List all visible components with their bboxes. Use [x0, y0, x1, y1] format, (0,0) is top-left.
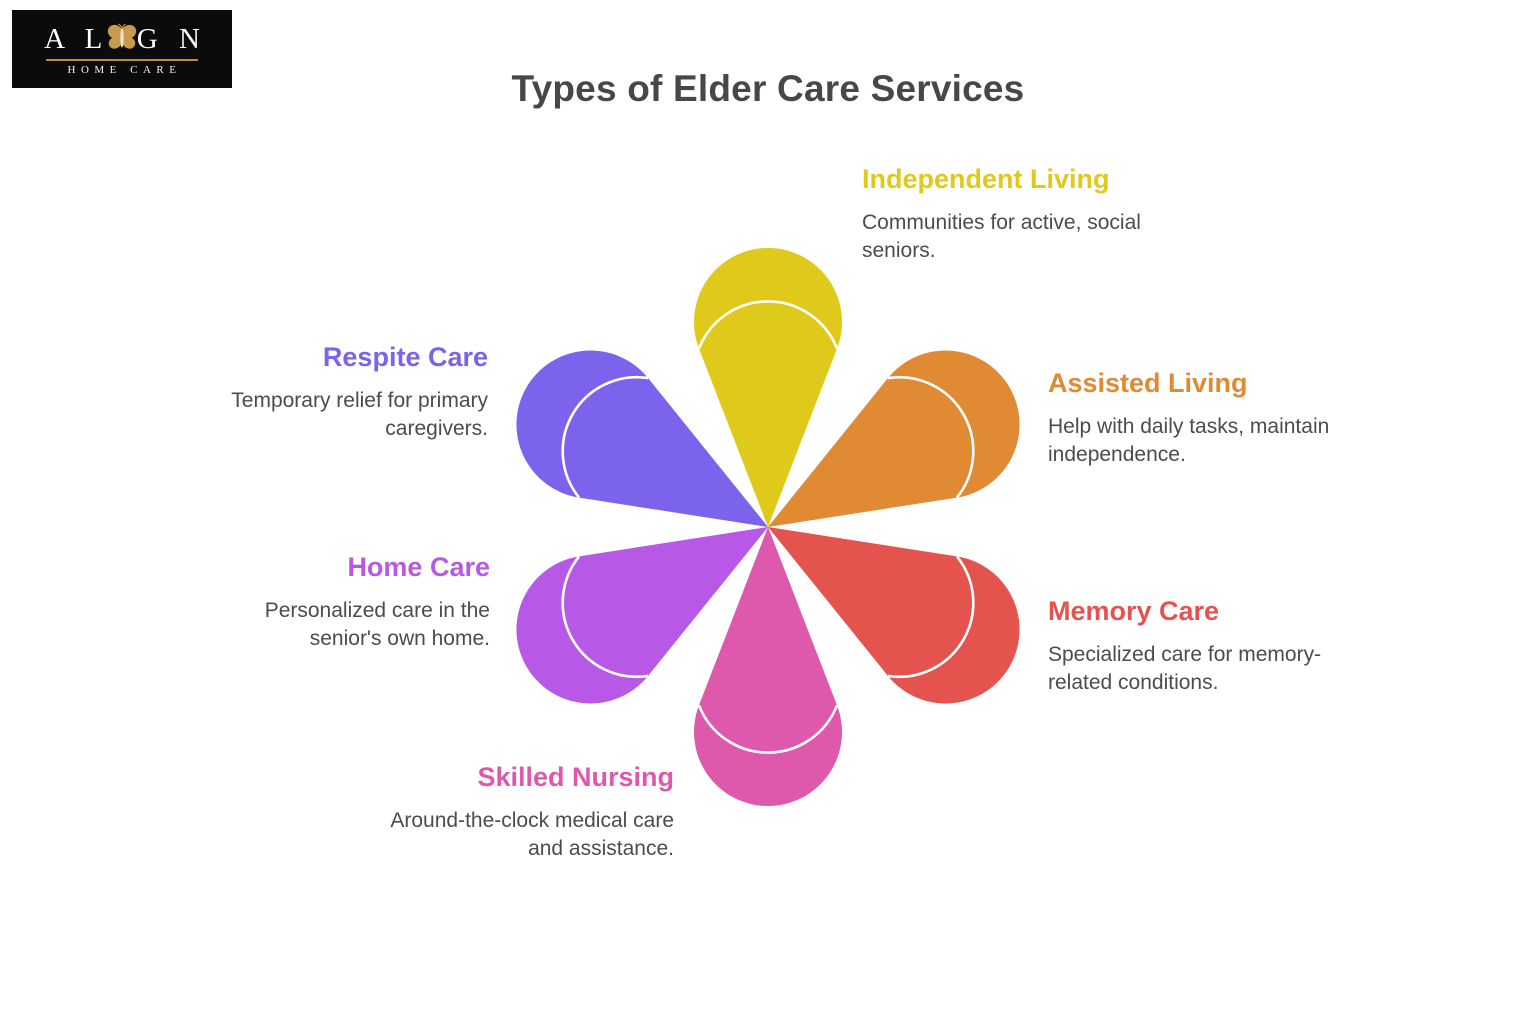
logo-divider: [46, 59, 198, 61]
logo-wordmark-text: A L G N: [37, 25, 207, 54]
service-description-assisted-living: Help with daily tasks, maintain independ…: [1048, 413, 1348, 469]
callout-independent-living: Independent Living Communities for activ…: [862, 164, 1192, 265]
logo-wordmark: A L G N: [12, 22, 232, 56]
service-description-memory-care: Specialized care for memory-related cond…: [1048, 641, 1348, 697]
elder-care-petal-diagram: [468, 227, 1068, 827]
service-title-skilled-nursing: Skilled Nursing: [384, 762, 674, 793]
page-title: Types of Elder Care Services: [0, 68, 1536, 110]
service-description-respite-care: Temporary relief for primary caregivers.: [210, 387, 488, 443]
service-description-skilled-nursing: Around-the-clock medical care and assist…: [384, 807, 674, 863]
service-title-independent-living: Independent Living: [862, 164, 1192, 195]
callout-memory-care: Memory Care Specialized care for memory-…: [1048, 596, 1348, 697]
service-description-independent-living: Communities for active, social seniors.: [862, 209, 1192, 265]
callout-respite-care: Respite Care Temporary relief for primar…: [210, 342, 488, 443]
service-title-home-care: Home Care: [210, 552, 490, 583]
service-description-home-care: Personalized care in the senior's own ho…: [210, 597, 490, 653]
callout-assisted-living: Assisted Living Help with daily tasks, m…: [1048, 368, 1348, 469]
service-title-memory-care: Memory Care: [1048, 596, 1348, 627]
service-title-respite-care: Respite Care: [210, 342, 488, 373]
petal-group: [516, 248, 1019, 806]
callout-skilled-nursing: Skilled Nursing Around-the-clock medical…: [384, 762, 674, 863]
callout-home-care: Home Care Personalized care in the senio…: [210, 552, 490, 653]
service-title-assisted-living: Assisted Living: [1048, 368, 1348, 399]
